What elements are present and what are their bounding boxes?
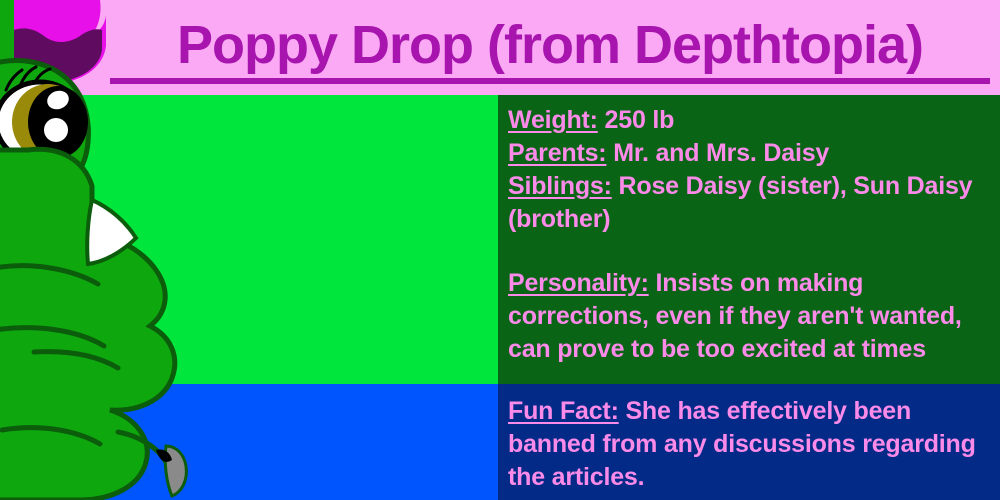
panel-top-left (0, 95, 498, 384)
page-title: Poppy Drop (from Depthtopia) (110, 14, 990, 84)
panel-bottom-left (0, 384, 498, 500)
funfact-label: Fun Fact: (508, 397, 619, 425)
parents-value: Mr. and Mrs. Daisy (613, 139, 829, 167)
character-bio-card: Poppy Drop (from Depthtopia) (0, 0, 1000, 500)
stats-block: Weight: 250 lb Parents: Mr. and Mrs. Dai… (508, 104, 988, 236)
funfact-block: Fun Fact: She has effectively been banne… (508, 395, 992, 494)
stat-parents: Parents: Mr. and Mrs. Daisy (508, 137, 988, 170)
parents-label: Parents: (508, 139, 606, 167)
stat-siblings: Siblings: Rose Daisy (sister), Sun Daisy… (508, 170, 988, 236)
stat-weight: Weight: 250 lb (508, 104, 988, 137)
header-band: Poppy Drop (from Depthtopia) (0, 0, 1000, 95)
siblings-label: Siblings: (508, 172, 612, 200)
weight-value: 250 lb (605, 106, 675, 134)
personality-block: Personality: Insists on making correctio… (508, 267, 990, 366)
personality-label: Personality: (508, 269, 649, 297)
weight-label: Weight: (508, 106, 598, 134)
